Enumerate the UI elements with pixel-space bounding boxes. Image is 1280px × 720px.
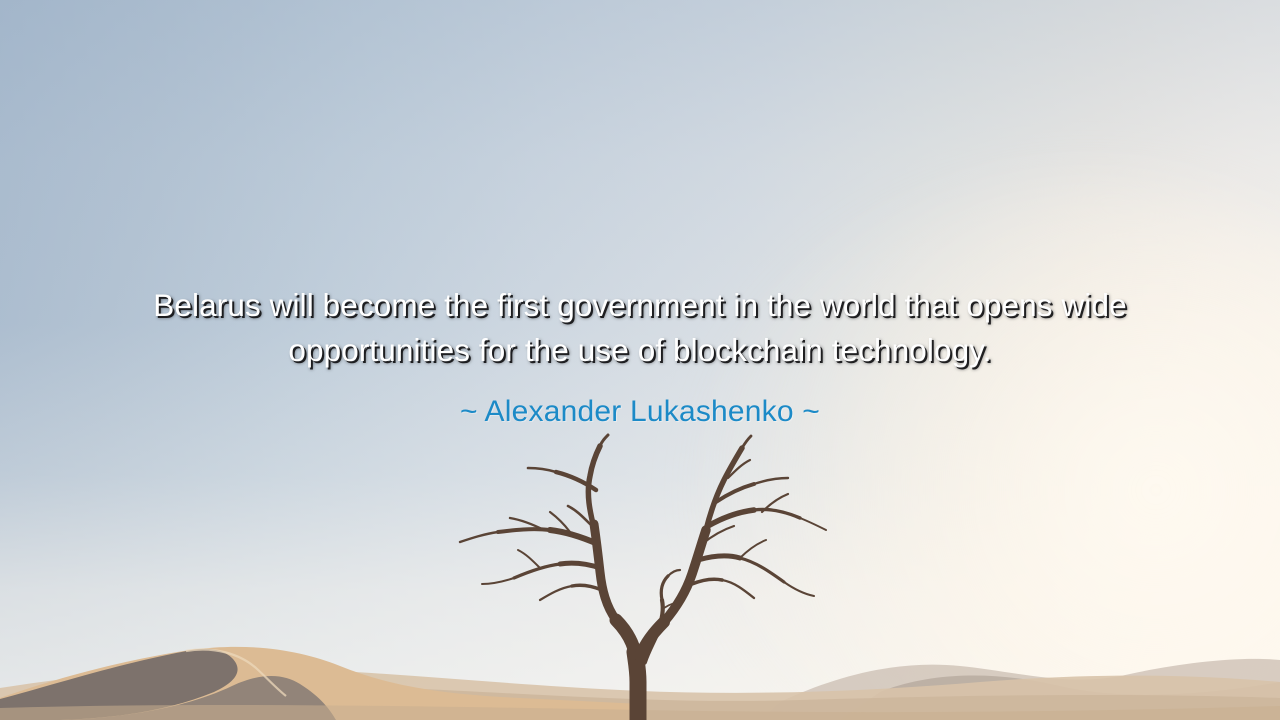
quote-attribution: ~ Alexander Lukashenko ~ — [40, 393, 1240, 431]
dead-tree — [440, 432, 840, 720]
quote-image-canvas: Belarus will become the first government… — [0, 0, 1280, 720]
quote-text: Belarus will become the first government… — [75, 283, 1205, 373]
quote-overlay: Belarus will become the first government… — [0, 283, 1280, 431]
